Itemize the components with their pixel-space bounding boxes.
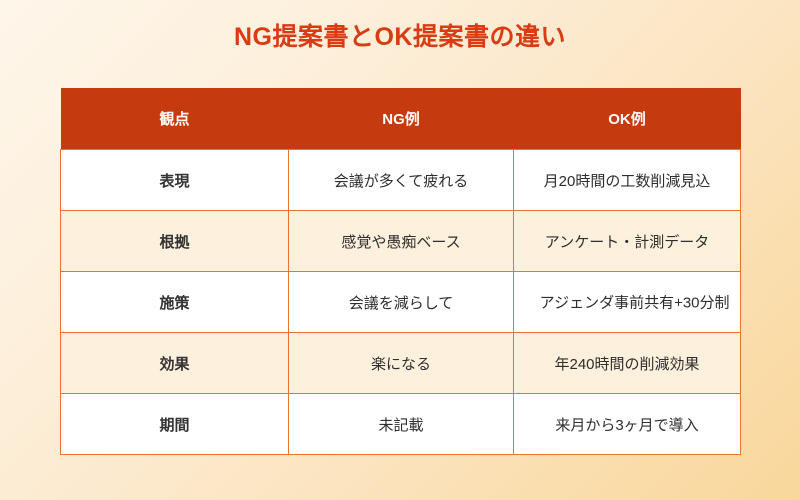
table-body: 表現 会議が多くて疲れる 月20時間の工数削減見込 根拠 感覚や愚痴ベース アン… [61,150,741,455]
cell-ok: 月20時間の工数削減見込 [514,150,741,211]
cell-ok-text: アジェンダ事前共有+30分制 [540,292,730,313]
cell-aspect: 根拠 [61,211,289,272]
table-row: 施策 会議を減らして アジェンダ事前共有+30分制 [61,272,741,333]
cell-ng: 楽になる [289,333,514,394]
cell-ng: 会議を減らして [289,272,514,333]
cell-ok: アンケート・計測データ [514,211,741,272]
cell-ok: 年240時間の削減効果 [514,333,741,394]
column-header-ok: OK例 [514,88,741,150]
cell-ng: 未記載 [289,394,514,455]
cell-ok: アジェンダ事前共有+30分制 [514,272,741,333]
table-header: 観点 NG例 OK例 [61,88,741,150]
comparison-table: 観点 NG例 OK例 表現 会議が多くて疲れる 月20時間の工数削減見込 根拠 … [60,88,741,455]
cell-aspect: 表現 [61,150,289,211]
table-row: 根拠 感覚や愚痴ベース アンケート・計測データ [61,211,741,272]
page-title: NG提案書とOK提案書の違い [0,17,800,53]
table-row: 期間 未記載 来月から3ヶ月で導入 [61,394,741,455]
cell-aspect: 期間 [61,394,289,455]
cell-ng: 感覚や愚痴ベース [289,211,514,272]
table-row: 効果 楽になる 年240時間の削減効果 [61,333,741,394]
cell-aspect: 効果 [61,333,289,394]
column-header-ng: NG例 [289,88,514,150]
cell-ng: 会議が多くて疲れる [289,150,514,211]
slide-canvas: NG提案書とOK提案書の違い 観点 NG例 OK例 表現 会議が多くて疲れる 月… [0,0,800,500]
cell-ok: 来月から3ヶ月で導入 [514,394,741,455]
cell-aspect: 施策 [61,272,289,333]
table-header-row: 観点 NG例 OK例 [61,88,741,150]
column-header-aspect: 観点 [61,88,289,150]
table-row: 表現 会議が多くて疲れる 月20時間の工数削減見込 [61,150,741,211]
